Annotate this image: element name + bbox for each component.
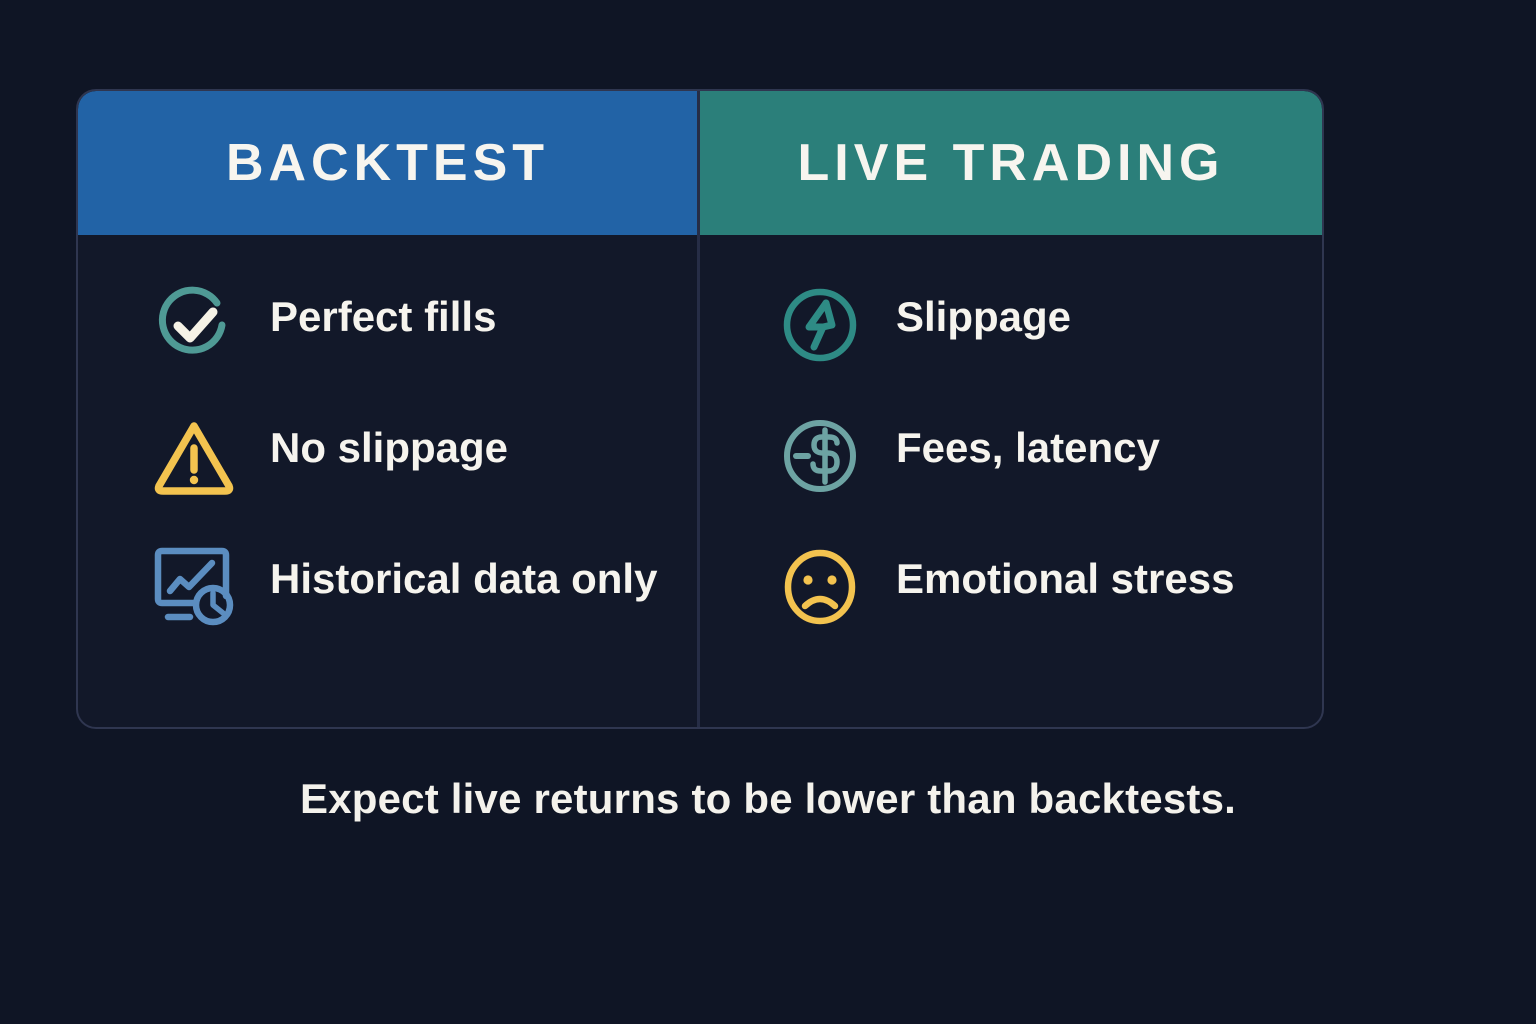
- lightning-bolt-circle-icon: [774, 279, 866, 371]
- infographic-stage: BACKTEST Perfect fills: [0, 0, 1536, 1024]
- feature-label: Emotional stress: [896, 553, 1234, 606]
- feature-label: Perfect fills: [270, 291, 496, 344]
- check-circle-icon: [148, 279, 240, 371]
- caption-text: Expect live returns to be lower than bac…: [0, 775, 1536, 823]
- column-header-live-trading: LIVE TRADING: [700, 91, 1322, 235]
- feature-row: Perfect fills: [78, 279, 697, 410]
- feature-row: Fees, latency: [700, 410, 1322, 541]
- feature-row: Emotional stress: [700, 541, 1322, 672]
- chart-clock-icon: [148, 541, 240, 633]
- feature-row: Slippage: [700, 279, 1322, 410]
- sad-face-icon: [774, 541, 866, 633]
- warning-triangle-icon: [148, 410, 240, 502]
- feature-row: Historical data only: [78, 541, 697, 672]
- minus-dollar-circle-icon: [774, 410, 866, 502]
- feature-label: No slippage: [270, 422, 508, 475]
- column-live-trading: LIVE TRADING Slippage: [700, 91, 1322, 727]
- feature-label: Historical data only: [270, 553, 657, 606]
- column-body-live-trading: Slippage Fees, latency: [700, 235, 1322, 727]
- feature-row: No slippage: [78, 410, 697, 541]
- column-backtest: BACKTEST Perfect fills: [78, 91, 700, 727]
- column-header-backtest: BACKTEST: [78, 91, 697, 235]
- comparison-card: BACKTEST Perfect fills: [76, 89, 1324, 729]
- column-body-backtest: Perfect fills No slippage: [78, 235, 697, 727]
- feature-label: Fees, latency: [896, 422, 1160, 475]
- feature-label: Slippage: [896, 291, 1071, 344]
